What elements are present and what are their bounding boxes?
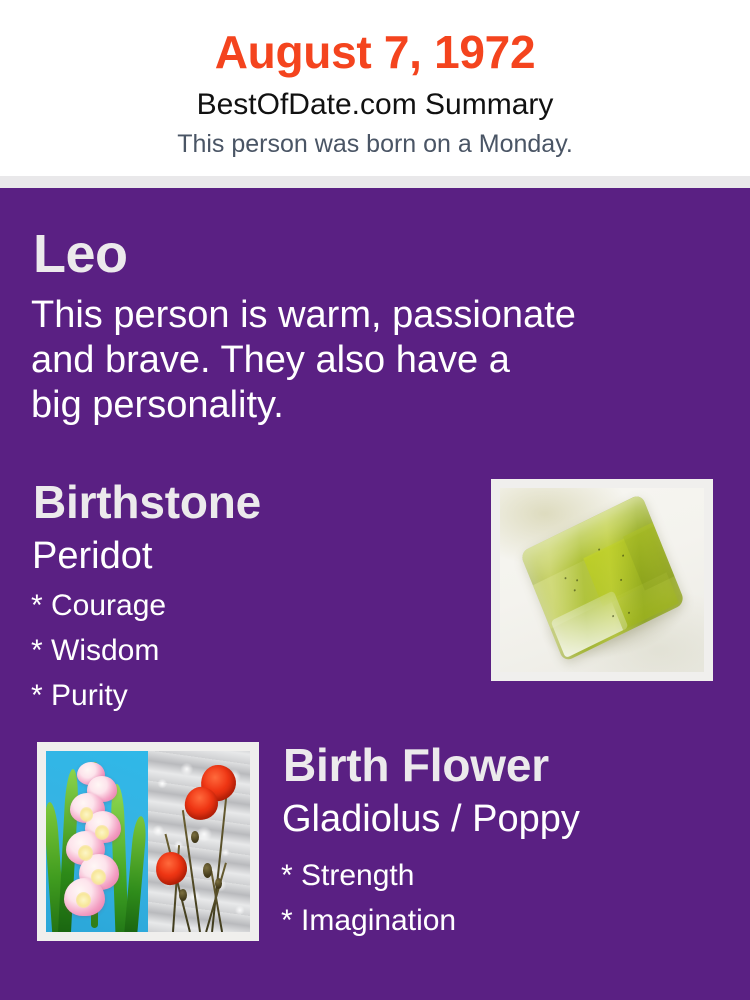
zodiac-description-line-1: This person is warm, passionate xyxy=(31,293,701,338)
birthstone-image-frame xyxy=(491,479,713,681)
birth-flower-heading: Birth Flower xyxy=(283,738,549,792)
poppy-bud xyxy=(191,831,199,844)
birth-flower-trait: * Imagination xyxy=(281,898,711,943)
zodiac-description-line-2: and brave. They also have a xyxy=(31,338,701,383)
peridot-gem-photo xyxy=(500,488,704,672)
birthstone-heading: Birthstone xyxy=(33,475,261,529)
poppy-bud xyxy=(179,889,187,902)
card-header: August 7, 1972 BestOfDate.com Summary Th… xyxy=(0,0,750,176)
gladiolus-bloom-center xyxy=(80,807,93,821)
gladiolus-poppy-photo xyxy=(46,751,250,932)
header-divider xyxy=(0,176,750,188)
birth-flower-trait-list: * Strength * Imagination xyxy=(281,853,711,943)
birth-flower-trait: * Strength xyxy=(281,853,711,898)
poppy-bud xyxy=(203,863,212,877)
gladiolus-photo-half xyxy=(46,751,148,932)
birth-flower-image-frame xyxy=(37,742,259,941)
gladiolus-bloom-center xyxy=(95,825,109,839)
poppy-photo-half xyxy=(148,751,250,932)
gladiolus-bloom-center xyxy=(91,869,106,885)
summary-card: August 7, 1972 BestOfDate.com Summary Th… xyxy=(0,0,750,1000)
site-summary-label: BestOfDate.com Summary xyxy=(0,86,750,124)
birthstone-trait-list: * Courage * Wisdom * Purity xyxy=(31,583,451,718)
birthstone-trait: * Courage xyxy=(31,583,451,628)
zodiac-sign-heading: Leo xyxy=(33,224,128,284)
zodiac-description-line-3: big personality. xyxy=(31,383,701,428)
birthstone-name: Peridot xyxy=(32,533,152,579)
birthstone-trait: * Purity xyxy=(31,673,451,718)
page-title-date: August 7, 1972 xyxy=(0,24,750,80)
birthstone-trait: * Wisdom xyxy=(31,628,451,673)
weekday-statement: This person was born on a Monday. xyxy=(0,128,750,160)
birth-flower-name: Gladiolus / Poppy xyxy=(282,796,580,842)
zodiac-description: This person is warm, passionate and brav… xyxy=(31,293,701,428)
